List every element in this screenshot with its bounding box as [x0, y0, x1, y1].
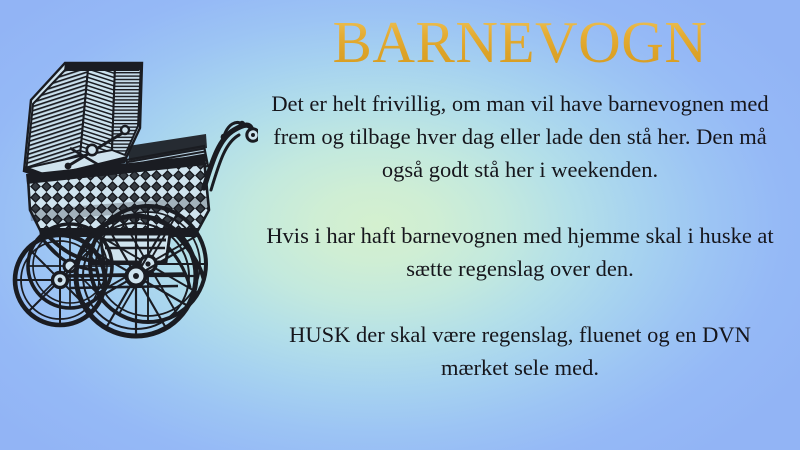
- poster-canvas: BARNEVOGN Det er helt frivillig, om man …: [0, 0, 800, 450]
- pram-wheel-front-near: [15, 235, 105, 325]
- body-paragraph-1: Det er helt frivillig, om man vil have b…: [258, 87, 782, 186]
- pram-handle: [204, 121, 258, 190]
- pram-engraving-svg: [8, 38, 258, 358]
- text-column: BARNEVOGN Det er helt frivillig, om man …: [258, 0, 782, 450]
- body-paragraph-3: HUSK der skal være regenslag, fluenet og…: [258, 318, 782, 384]
- page-title: BARNEVOGN: [258, 0, 782, 72]
- body-paragraph-2: Hvis i har haft barnevognen med hjemme s…: [258, 219, 782, 285]
- pram-wheel-rear-near: [76, 216, 196, 336]
- baby-pram-illustration: [8, 38, 258, 358]
